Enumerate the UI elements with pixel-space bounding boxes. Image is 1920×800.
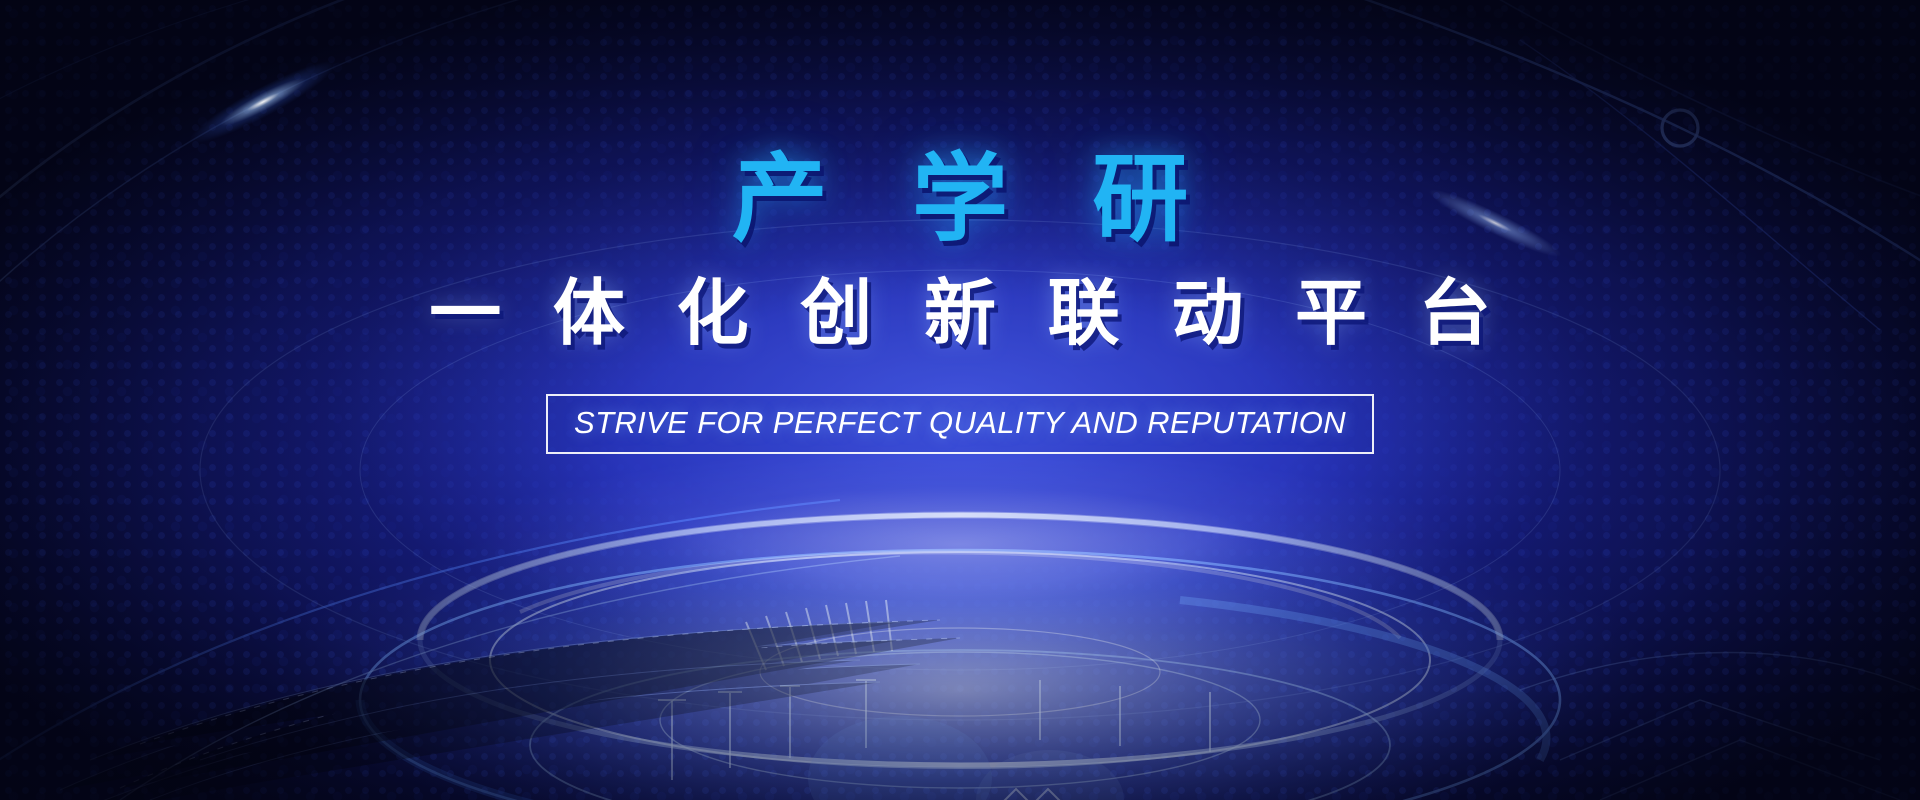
tagline-box: STRIVE FOR PERFECT QUALITY AND REPUTATIO…: [546, 394, 1374, 454]
banner-content: 产 学 研 一 体 化 创 新 联 动 平 台 STRIVE FOR PERFE…: [0, 0, 1920, 800]
headline-secondary: 一 体 化 创 新 联 动 平 台: [413, 278, 1506, 350]
tagline-text: STRIVE FOR PERFECT QUALITY AND REPUTATIO…: [574, 405, 1346, 441]
headline-primary: 产 学 研: [703, 152, 1217, 248]
banner-root: 产 学 研 一 体 化 创 新 联 动 平 台 STRIVE FOR PERFE…: [0, 0, 1920, 800]
